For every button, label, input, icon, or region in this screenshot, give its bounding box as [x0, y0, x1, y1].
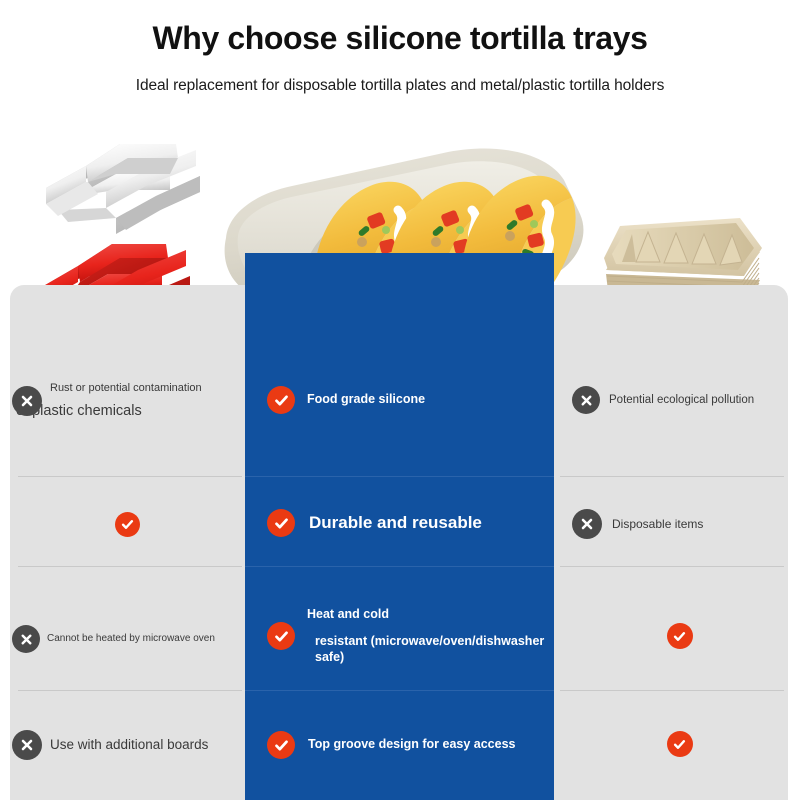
comparison-cell-right-row-2: Disposable items: [572, 506, 787, 542]
metal-taco-holder-graphic: [46, 144, 200, 234]
comparison-cell-middle-row-3: Heat and cold resistant (microwave/oven/…: [267, 605, 552, 667]
row-divider: [245, 566, 554, 567]
comparison-text-line: Potential ecological pollution: [609, 393, 754, 407]
comparison-text-line: Disposable items: [612, 517, 703, 532]
comparison-cell-right-row-3: [572, 620, 787, 652]
comparison-cell-left-row-1-text: Rust or potential contamination of plast…: [50, 382, 202, 420]
comparison-text-line: Cannot be heated by microwave oven: [47, 633, 215, 646]
comparison-column-left: [10, 285, 246, 800]
header: Why choose silicone tortilla trays Ideal…: [0, 0, 800, 95]
cross-icon: [12, 386, 42, 416]
row-divider: [18, 476, 242, 477]
check-icon: [267, 731, 295, 759]
check-icon: [115, 512, 140, 537]
row-divider: [560, 566, 784, 567]
comparison-cell-left-row-3: Cannot be heated by microwave oven: [12, 623, 242, 655]
row-divider: [245, 690, 554, 691]
comparison-text-line: resistant (microwave/oven/dishwasher saf…: [315, 634, 552, 665]
cross-icon: [12, 730, 42, 760]
cross-icon: [572, 509, 602, 539]
comparison-cell-middle-row-1: Food grade silicone: [267, 382, 547, 418]
row-divider: [18, 566, 242, 567]
comparison-text-line: Heat and cold: [307, 607, 552, 623]
comparison-cell-right-row-4: [572, 728, 787, 760]
comparison-cell-middle-row-3-text: Heat and cold resistant (microwave/oven/…: [307, 607, 552, 666]
comparison-text-line: Food grade silicone: [307, 392, 425, 408]
row-divider: [18, 690, 242, 691]
row-divider: [245, 476, 554, 477]
comparison-text-line: Use with additional boards: [50, 737, 208, 754]
comparison-cell-left-row-2: [12, 508, 242, 540]
comparison-cell-left-row-4: Use with additional boards: [12, 728, 242, 762]
comparison-text-line: Rust or potential contamination: [50, 382, 202, 396]
page-subtitle: Ideal replacement for disposable tortill…: [0, 57, 800, 95]
page-title: Why choose silicone tortilla trays: [0, 0, 800, 57]
cross-icon: [572, 386, 600, 414]
check-icon: [667, 731, 693, 757]
check-icon: [267, 509, 295, 537]
comparison-text-line: of plastic chemicals: [16, 402, 202, 420]
comparison-text-line: Durable and reusable: [309, 512, 482, 533]
check-icon: [667, 623, 693, 649]
comparison-column-right: [554, 285, 788, 800]
comparison-cell-middle-row-4: Top groove design for easy access: [267, 728, 552, 762]
check-icon: [267, 386, 295, 414]
comparison-cell-middle-row-2: Durable and reusable: [267, 504, 547, 542]
infographic-page: Why choose silicone tortilla trays Ideal…: [0, 0, 800, 800]
row-divider: [560, 690, 784, 691]
row-divider: [560, 476, 784, 477]
check-icon: [267, 622, 295, 650]
comparison-text-line: Top groove design for easy access: [308, 737, 515, 753]
cross-icon: [12, 625, 40, 653]
comparison-cell-left-row-1: Rust or potential contamination of plast…: [12, 372, 242, 430]
comparison-cell-right-row-1: Potential ecological pollution: [572, 382, 787, 418]
